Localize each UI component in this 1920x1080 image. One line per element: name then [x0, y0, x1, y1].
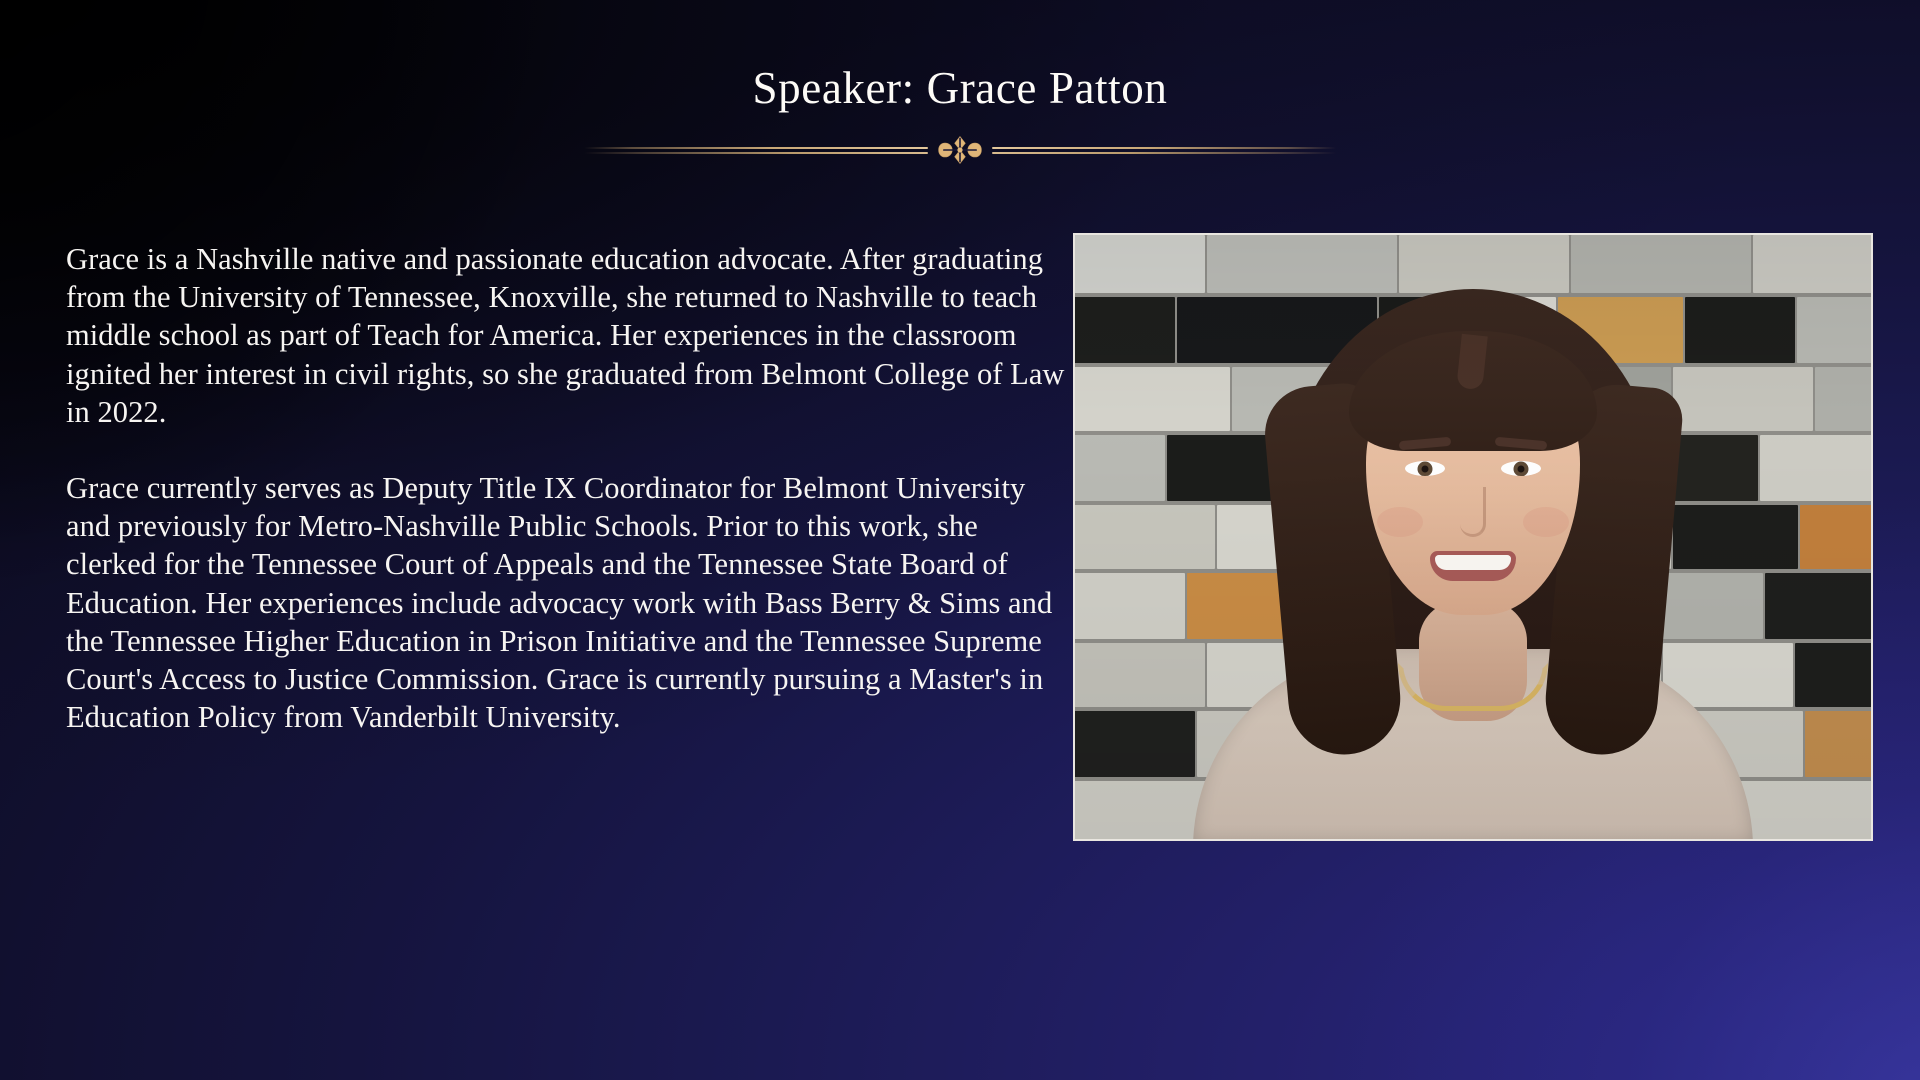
speaker-portrait-subject	[1075, 235, 1871, 839]
bio-paragraph-2: Grace currently serves as Deputy Title I…	[66, 469, 1066, 736]
quatrefoil-ornament-icon	[937, 135, 983, 165]
bio-paragraph-1: Grace is a Nashville native and passiona…	[66, 240, 1066, 431]
eye-right	[1501, 461, 1541, 476]
decorative-divider	[584, 135, 1336, 165]
speaker-bio-text: Grace is a Nashville native and passiona…	[66, 240, 1066, 736]
cheek-right	[1523, 507, 1569, 537]
smiling-mouth	[1430, 551, 1516, 581]
eye-left	[1405, 461, 1445, 476]
speaker-bio-slide: Speaker: Grace Patton	[0, 0, 1920, 1080]
page-title: Speaker: Grace Patton	[0, 62, 1920, 114]
nose	[1460, 487, 1486, 537]
divider-rule-right	[992, 146, 1336, 154]
cheek-left	[1377, 507, 1423, 537]
speaker-photo	[1073, 233, 1873, 841]
divider-rule-left	[584, 146, 928, 154]
